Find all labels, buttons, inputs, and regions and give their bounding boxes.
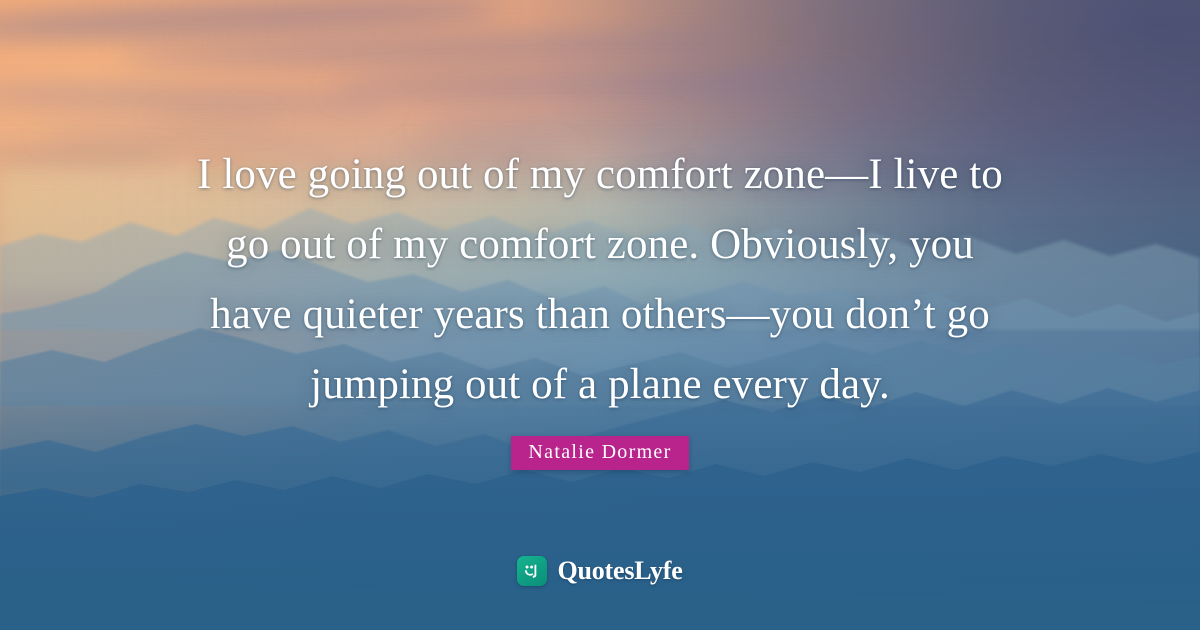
quote-line: I love going out of my comfort zone—I li…	[70, 140, 1130, 210]
card-content: I love going out of my comfort zone—I li…	[0, 0, 1200, 630]
quoteslyfe-smiley-icon	[517, 556, 547, 586]
quote-text: I love going out of my comfort zone—I li…	[70, 140, 1130, 420]
brand-logo[interactable]: QuotesLyfe	[0, 556, 1200, 586]
quote-card: I love going out of my comfort zone—I li…	[0, 0, 1200, 630]
brand-name: QuotesLyfe	[557, 558, 682, 584]
author-badge: Natalie Dormer	[511, 436, 688, 470]
quote-line: go out of my comfort zone. Obviously, yo…	[70, 210, 1130, 280]
quote-line: jumping out of a plane every day.	[70, 350, 1130, 420]
quote-line: have quieter years than others—you don’t…	[70, 280, 1130, 350]
